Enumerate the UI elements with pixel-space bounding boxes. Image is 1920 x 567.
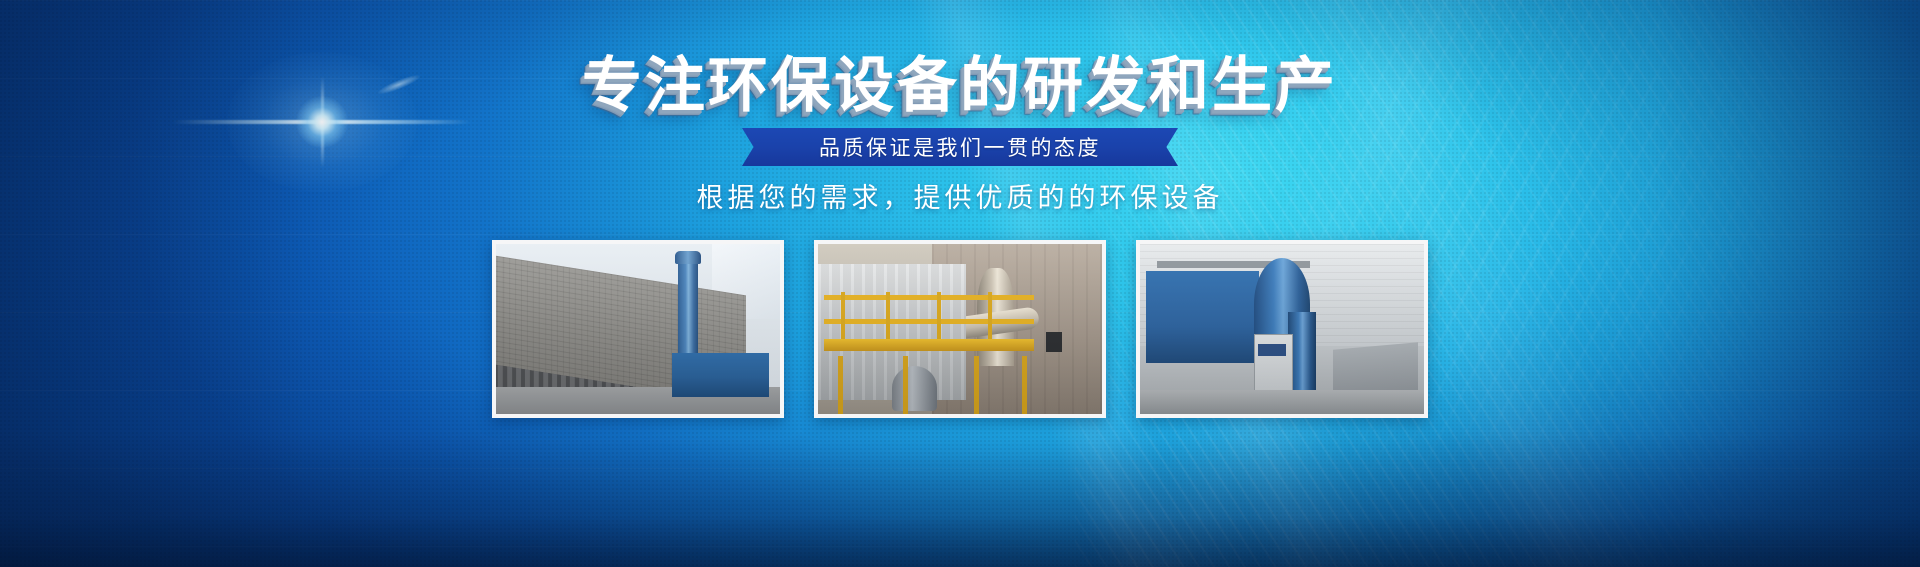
banner-badge-wrapper: 品质保证是我们一贯的态度 [0,128,1920,166]
photo-factory-building-scene [496,244,780,414]
platform-rail-mid [824,319,1034,324]
photo-rto-platform-scene [818,244,1102,414]
control-box [1046,332,1062,352]
rail-post [886,292,890,343]
control-panel [1258,344,1286,356]
banner-subtitle: 根据您的需求，提供优质的的环保设备 [0,176,1920,215]
platform-leg [903,356,908,414]
platform-leg [974,356,979,414]
floor-region [1140,390,1424,414]
banner-main-title: 专注环保设备的研发和生产 [0,56,1920,116]
photo-dust-collector[interactable] [1136,240,1428,418]
rail-post [841,292,845,343]
rail-post [988,292,992,343]
photo-factory-building[interactable] [492,240,784,418]
platform-rail-top [824,295,1034,300]
banner-content: 专注环保设备的研发和生产 品质保证是我们一贯的态度 根据您的需求，提供优质的的环… [0,0,1920,567]
badge-label: 品质保证是我们一贯的态度 [819,132,1101,162]
platform-leg [838,356,843,414]
photo-strip [0,240,1920,418]
blue-equipment-unit [672,353,769,397]
quality-ribbon-badge: 品质保证是我们一贯的态度 [761,128,1159,166]
dust-collector-hopper [1146,271,1260,363]
hero-banner: 专注环保设备的研发和生产 品质保证是我们一贯的态度 根据您的需求，提供优质的的环… [0,0,1920,567]
process-vessel [892,366,937,410]
exhaust-stack-cap [675,251,701,264]
platform-leg [1022,356,1027,414]
photo-dust-collector-scene [1140,244,1424,414]
photo-rto-platform[interactable] [814,240,1106,418]
rail-post [937,292,941,343]
platform-deck [824,339,1034,351]
